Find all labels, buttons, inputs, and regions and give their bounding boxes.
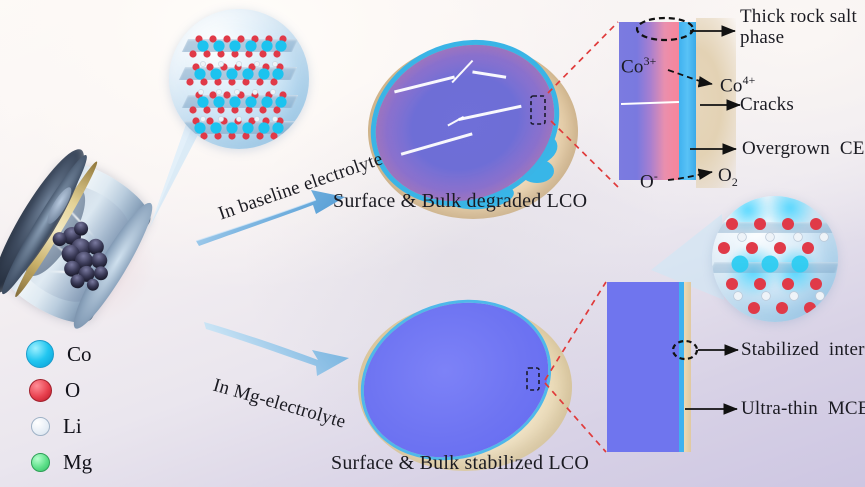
label-thick-rock-salt: Thick rock salt phase <box>740 6 857 49</box>
battery-cell <box>0 137 168 343</box>
figure-canvas: Thick rock salt phase Co3+ Co4+ Cracks O… <box>0 0 865 487</box>
caption-degraded-lco: Surface & Bulk degraded LCO <box>333 190 587 212</box>
caption-stabilized-lco: Surface & Bulk stabilized LCO <box>331 452 589 474</box>
atoms-baseline <box>169 9 309 149</box>
label-o-minus: O- <box>640 170 658 193</box>
atoms-mg <box>712 196 838 322</box>
rock-salt-layer <box>679 22 696 180</box>
label-cracks: Cracks <box>740 94 794 115</box>
legend-item-mg: Mg <box>26 444 92 480</box>
crack-5 <box>458 105 521 121</box>
o-minus-superscript: - <box>654 170 658 183</box>
stabilized-lco-particle <box>358 303 572 471</box>
legend-label-li: Li <box>63 414 82 439</box>
co3-superscript: 3+ <box>644 55 657 68</box>
label-co3plus: Co3+ <box>621 55 657 78</box>
inset-bubble-mg-structure <box>712 196 838 322</box>
legend-label-mg: Mg <box>63 450 92 475</box>
legend-label-co: Co <box>67 342 92 367</box>
legend-dot-mg-icon <box>31 453 50 472</box>
o2-subscript: 2 <box>732 176 738 189</box>
legend-dot-li-icon <box>31 417 50 436</box>
inset-bubble-baseline-structure <box>169 9 309 149</box>
legend-dot-co-icon <box>26 340 54 368</box>
legend-dot-o-icon <box>29 379 52 402</box>
crack-2 <box>451 60 473 83</box>
co4-superscript: 4+ <box>743 74 756 87</box>
legend-item-li: Li <box>26 408 92 444</box>
crack-6 <box>447 116 464 126</box>
crack-1 <box>394 76 455 94</box>
label-ultrathin-mcei: Ultra-thin MCEI <box>741 398 865 419</box>
stabilized-interface-schematic <box>607 282 697 452</box>
legend-label-o: O <box>65 378 80 403</box>
crack-3 <box>472 70 506 78</box>
legend-item-o: O <box>26 372 92 408</box>
stabilized-bulk-layer <box>607 282 679 452</box>
crack-4 <box>401 132 473 155</box>
label-o2: O2 <box>718 165 738 189</box>
degraded-interface-schematic <box>619 22 739 187</box>
ultrathin-mcei-layer <box>684 282 691 452</box>
label-stabilized-interface: Stabilized interface <box>741 339 865 360</box>
legend-item-co: Co <box>26 336 92 372</box>
label-overgrown-cei: Overgrown CEI <box>742 138 865 159</box>
legend: Co O Li Mg <box>26 336 92 480</box>
overgrown-cei-layer <box>696 18 736 188</box>
